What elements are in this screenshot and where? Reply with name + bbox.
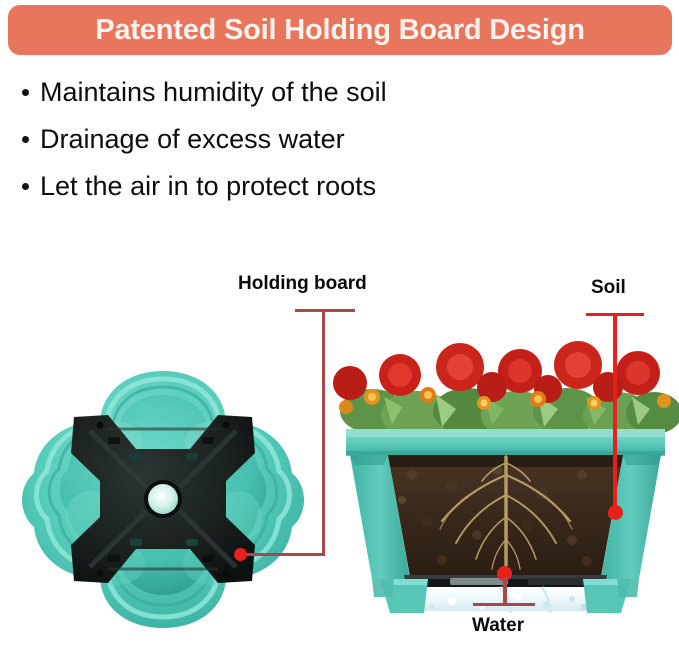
bullet-dot-icon <box>22 136 29 143</box>
list-item: Drainage of excess water <box>22 119 642 166</box>
leader-line-water-vertical <box>503 577 507 605</box>
bullet-dot-icon <box>22 89 29 96</box>
marker-dot-soil <box>608 505 623 520</box>
marker-dot-holding-board <box>234 548 247 561</box>
center-drain-hole <box>148 484 178 514</box>
callout-label-holding-board: Holding board <box>238 273 367 295</box>
product-diagram: Holding board Soil Water <box>0 225 679 646</box>
flower-arrangement <box>333 341 679 439</box>
list-item: Let the air in to protect roots <box>22 166 642 213</box>
list-item: Maintains humidity of the soil <box>22 72 642 119</box>
leader-line-soil-vertical <box>613 313 617 513</box>
bullet-dot-icon <box>22 183 29 190</box>
top-down-planter-illustration <box>12 365 314 633</box>
feature-list: Maintains humidity of the soil Drainage … <box>22 72 642 213</box>
feature-text: Maintains humidity of the soil <box>40 72 387 112</box>
callout-label-water: Water <box>472 615 524 637</box>
leader-tick-holding-board <box>295 309 355 312</box>
page-title: Patented Soil Holding Board Design <box>95 14 584 47</box>
leader-line-holding-board-vertical <box>322 309 325 555</box>
feature-text: Let the air in to protect roots <box>40 166 376 206</box>
header-banner: Patented Soil Holding Board Design <box>8 5 672 55</box>
callout-label-soil: Soil <box>591 277 626 299</box>
leader-tick-water <box>473 603 535 606</box>
feature-text: Drainage of excess water <box>40 119 345 159</box>
leader-line-holding-board-horizontal <box>243 553 325 556</box>
